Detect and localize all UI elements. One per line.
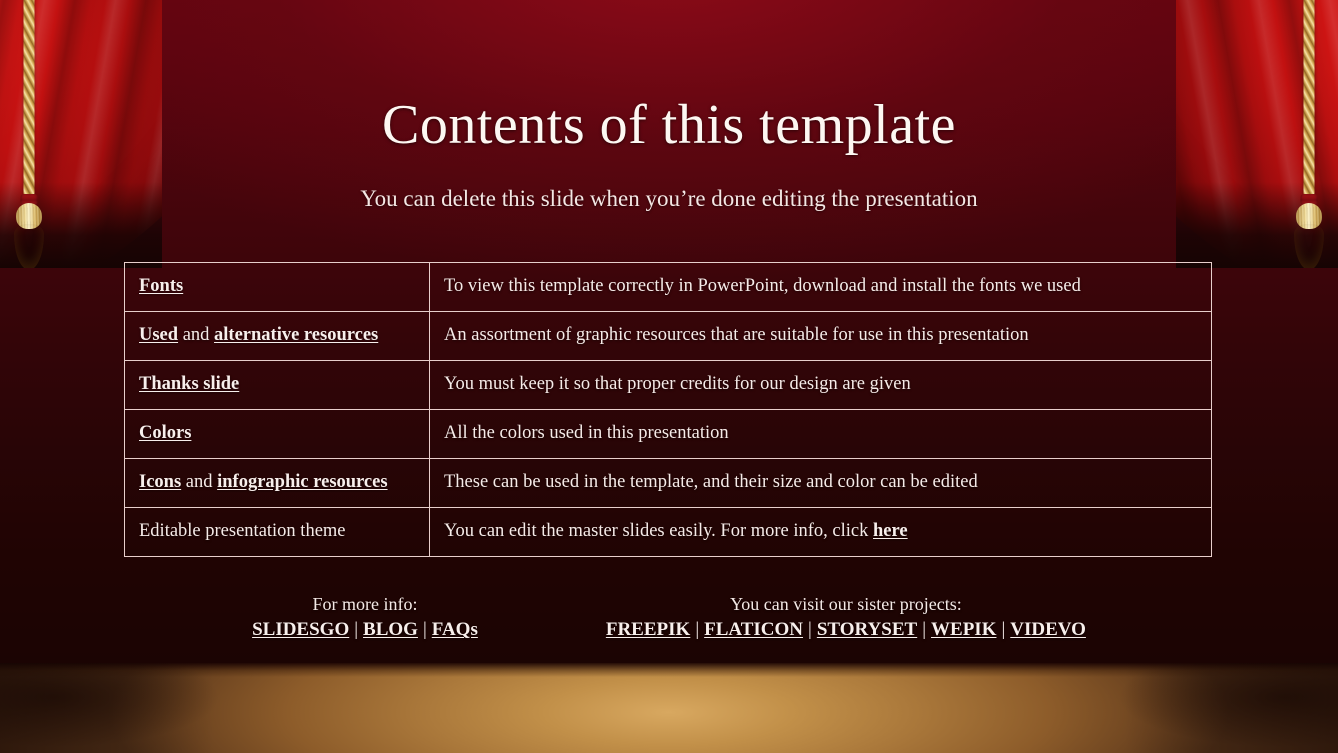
table-cell-label: Editable presentation theme [125, 508, 430, 557]
table-row: Editable presentation themeYou can edit … [125, 508, 1212, 557]
slide-title: Contents of this template [0, 96, 1338, 155]
table-cell-label: Colors [125, 410, 430, 459]
table-cell-label: Icons and infographic resources [125, 459, 430, 508]
table-cell-description: An assortment of graphic resources that … [430, 312, 1212, 361]
row-5-desc-link-1[interactable]: here [873, 521, 908, 541]
table-cell-label: Used and alternative resources [125, 312, 430, 361]
footer-links: SLIDESGO|BLOG|FAQs [252, 618, 478, 643]
row-1-desc-text-0: An assortment of graphic resources that … [444, 325, 1029, 345]
footer-link-slidesgo[interactable]: SLIDESGO [252, 619, 349, 640]
footer-links: FREEPIK|FLATICON|STORYSET|WEPIK|VIDEVO [606, 618, 1086, 643]
row-2-desc-text-0: You must keep it so that proper credits … [444, 374, 911, 394]
row-1-label-text-1: and [178, 325, 214, 345]
footer-link-separator: | [917, 618, 931, 643]
footer-heading: For more info: [252, 592, 478, 616]
footer-link-separator: | [418, 618, 432, 643]
footer-link-separator: | [996, 618, 1010, 643]
row-3-label-link-0[interactable]: Colors [139, 423, 191, 443]
footer-link-blog[interactable]: BLOG [363, 619, 418, 640]
row-0-desc-text-0: To view this template correctly in Power… [444, 276, 1081, 296]
table-cell-label: Fonts [125, 263, 430, 312]
table-row: Thanks slideYou must keep it so that pro… [125, 361, 1212, 410]
table-cell-description: To view this template correctly in Power… [430, 263, 1212, 312]
contents-table: FontsTo view this template correctly in … [124, 262, 1212, 557]
presentation-slide: Contents of this template You can delete… [0, 0, 1338, 753]
table-cell-label-content: Icons and infographic resources [139, 471, 415, 494]
table-row: FontsTo view this template correctly in … [125, 263, 1212, 312]
row-3-desc-text-0: All the colors used in this presentation [444, 423, 729, 443]
footer-link-separator: | [349, 618, 363, 643]
table-cell-description-content: To view this template correctly in Power… [444, 275, 1197, 298]
table-row: ColorsAll the colors used in this presen… [125, 410, 1212, 459]
row-5-desc-text-0: You can edit the master slides easily. F… [444, 521, 873, 541]
table-cell-label-content: Thanks slide [139, 373, 415, 396]
row-2-label-link-0[interactable]: Thanks slide [139, 374, 239, 394]
footer-link-wepik[interactable]: WEPIK [931, 619, 996, 640]
footer: For more info:SLIDESGO|BLOG|FAQsYou can … [0, 592, 1338, 643]
slide-subtitle: You can delete this slide when you’re do… [0, 186, 1338, 212]
row-4-label-link-0[interactable]: Icons [139, 472, 181, 492]
table-cell-description-content: These can be used in the template, and t… [444, 471, 1197, 494]
stage-floor-decoration [0, 663, 1338, 753]
tassel-skirt-icon [1294, 224, 1324, 268]
contents-table-body: FontsTo view this template correctly in … [125, 263, 1212, 557]
row-0-label-link-0[interactable]: Fonts [139, 276, 183, 296]
footer-link-faqs[interactable]: FAQs [432, 619, 478, 640]
footer-link-flaticon[interactable]: FLATICON [704, 619, 803, 640]
footer-link-storyset[interactable]: STORYSET [817, 619, 917, 640]
table-row: Icons and infographic resourcesThese can… [125, 459, 1212, 508]
row-4-desc-text-0: These can be used in the template, and t… [444, 472, 978, 492]
footer-group-1: You can visit our sister projects:FREEPI… [606, 592, 1086, 643]
table-row: Used and alternative resourcesAn assortm… [125, 312, 1212, 361]
footer-group-0: For more info:SLIDESGO|BLOG|FAQs [252, 592, 478, 643]
footer-link-separator: | [803, 618, 817, 643]
table-cell-description-content: An assortment of graphic resources that … [444, 324, 1197, 347]
footer-link-separator: | [690, 618, 704, 643]
table-cell-description-content: You can edit the master slides easily. F… [444, 520, 1197, 543]
tassel-skirt-icon [14, 224, 44, 268]
table-cell-description: You can edit the master slides easily. F… [430, 508, 1212, 557]
footer-link-freepik[interactable]: FREEPIK [606, 619, 690, 640]
row-5-label-text-0: Editable presentation theme [139, 521, 346, 541]
table-cell-label-content: Used and alternative resources [139, 324, 415, 347]
table-cell-label-content: Fonts [139, 275, 415, 298]
table-cell-description: These can be used in the template, and t… [430, 459, 1212, 508]
table-cell-label-content: Editable presentation theme [139, 520, 415, 543]
row-1-label-link-2[interactable]: alternative resources [214, 325, 378, 345]
row-4-label-text-1: and [181, 472, 217, 492]
table-cell-description-content: All the colors used in this presentation [444, 422, 1197, 445]
footer-heading: You can visit our sister projects: [606, 592, 1086, 616]
table-cell-description-content: You must keep it so that proper credits … [444, 373, 1197, 396]
row-4-label-link-2[interactable]: infographic resources [217, 472, 387, 492]
table-cell-description: You must keep it so that proper credits … [430, 361, 1212, 410]
table-cell-label-content: Colors [139, 422, 415, 445]
row-1-label-link-0[interactable]: Used [139, 325, 178, 345]
table-cell-description: All the colors used in this presentation [430, 410, 1212, 459]
table-cell-label: Thanks slide [125, 361, 430, 410]
footer-link-videvo[interactable]: VIDEVO [1010, 619, 1086, 640]
